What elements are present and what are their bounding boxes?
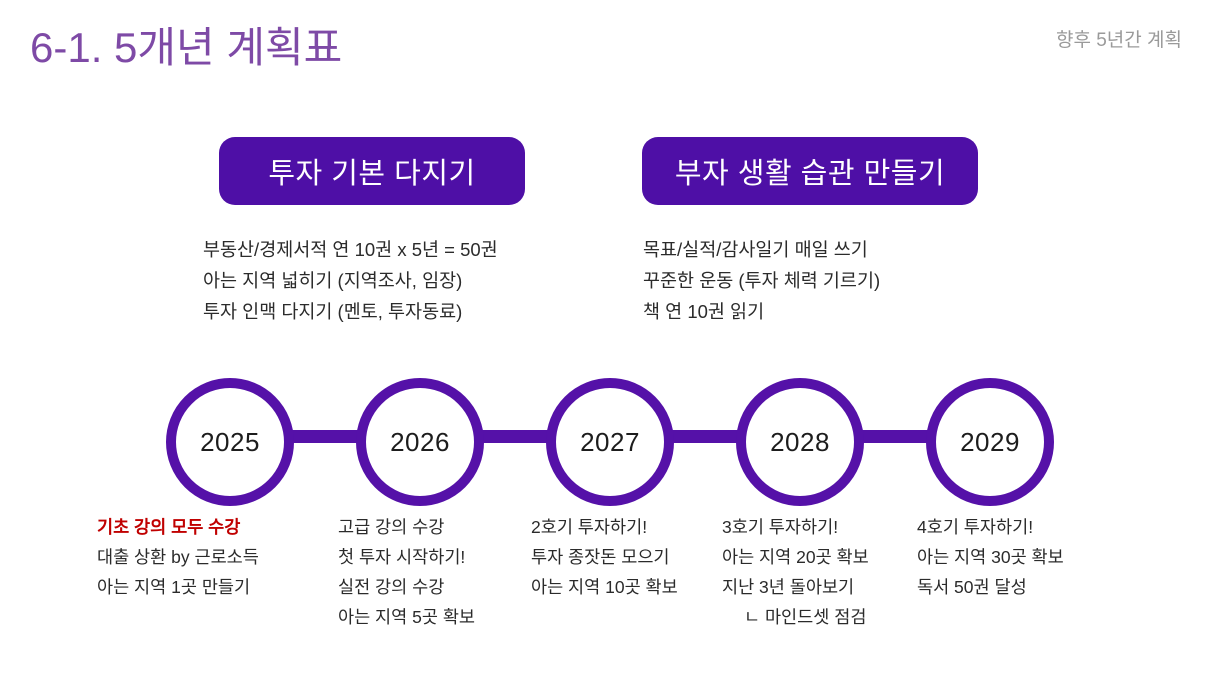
topic-pill-1[interactable]: 투자 기본 다지기 [219, 137, 525, 205]
timeline-node-2026[interactable]: 2026 [356, 378, 484, 506]
year-detail-line: 2호기 투자하기! [531, 512, 678, 542]
page-title: 6-1. 5개년 계획표 [30, 14, 342, 75]
timeline-node-year: 2026 [390, 427, 450, 458]
year-detail-line: 아는 지역 10곳 확보 [531, 572, 678, 602]
year-detail-line: 4호기 투자하기! [917, 512, 1064, 542]
timeline-node-2025[interactable]: 2025 [166, 378, 294, 506]
topic-pill-label: 부자 생활 습관 만들기 [675, 150, 945, 192]
year-detail-line: 고급 강의 수강 [338, 512, 475, 542]
year-detail-line: 지난 3년 돌아보기 [722, 572, 869, 602]
year-detail-column-2025: 기초 강의 모두 수강대출 상환 by 근로소득아는 지역 1곳 만들기 [97, 512, 259, 602]
slide-kicker: 향후 5년간 계획 [1056, 25, 1182, 52]
topic-detail-list-2: 목표/실적/감사일기 매일 쓰기꾸준한 운동 (투자 체력 기르기)책 연 10… [643, 234, 880, 327]
year-detail-line-highlight: 기초 강의 모두 수강 [97, 512, 259, 542]
year-detail-line: ㄴ 마인드셋 점검 [722, 602, 869, 632]
year-detail-line: 투자 종잣돈 모으기 [531, 542, 678, 572]
year-detail-line: 실전 강의 수강 [338, 572, 475, 602]
timeline-node-year: 2028 [770, 427, 830, 458]
timeline: 20252026202720282029 [0, 373, 1216, 503]
year-detail-column-2026: 고급 강의 수강첫 투자 시작하기!실전 강의 수강아는 지역 5곳 확보 [338, 512, 475, 632]
timeline-node-year: 2025 [200, 427, 260, 458]
year-detail-line: 아는 지역 30곳 확보 [917, 542, 1064, 572]
topic-detail-line: 부동산/경제서적 연 10권 x 5년 = 50권 [203, 234, 498, 265]
timeline-node-year: 2029 [960, 427, 1020, 458]
topic-pill-2[interactable]: 부자 생활 습관 만들기 [642, 137, 978, 205]
topic-detail-line: 목표/실적/감사일기 매일 쓰기 [643, 234, 880, 265]
topic-pill-label: 투자 기본 다지기 [268, 150, 475, 192]
topic-detail-line: 꾸준한 운동 (투자 체력 기르기) [643, 265, 880, 296]
timeline-node-2028[interactable]: 2028 [736, 378, 864, 506]
year-detail-column-2029: 4호기 투자하기!아는 지역 30곳 확보독서 50권 달성 [917, 512, 1064, 602]
topic-detail-list-1: 부동산/경제서적 연 10권 x 5년 = 50권아는 지역 넓히기 (지역조사… [203, 234, 498, 327]
topic-detail-line: 투자 인맥 다지기 (멘토, 투자동료) [203, 296, 498, 327]
topic-detail-line: 책 연 10권 읽기 [643, 296, 880, 327]
year-detail-line: 아는 지역 1곳 만들기 [97, 572, 259, 602]
year-detail-line: 독서 50권 달성 [917, 572, 1064, 602]
timeline-node-2029[interactable]: 2029 [926, 378, 1054, 506]
year-detail-column-2028: 3호기 투자하기!아는 지역 20곳 확보지난 3년 돌아보기ㄴ 마인드셋 점검 [722, 512, 869, 632]
year-detail-line: 아는 지역 5곳 확보 [338, 602, 475, 632]
year-detail-line: 첫 투자 시작하기! [338, 542, 475, 572]
year-detail-line: 아는 지역 20곳 확보 [722, 542, 869, 572]
year-detail-column-2027: 2호기 투자하기!투자 종잣돈 모으기아는 지역 10곳 확보 [531, 512, 678, 602]
year-detail-line: 대출 상환 by 근로소득 [97, 542, 259, 572]
topic-detail-line: 아는 지역 넓히기 (지역조사, 임장) [203, 265, 498, 296]
timeline-node-year: 2027 [580, 427, 640, 458]
year-detail-line: 3호기 투자하기! [722, 512, 869, 542]
timeline-node-2027[interactable]: 2027 [546, 378, 674, 506]
